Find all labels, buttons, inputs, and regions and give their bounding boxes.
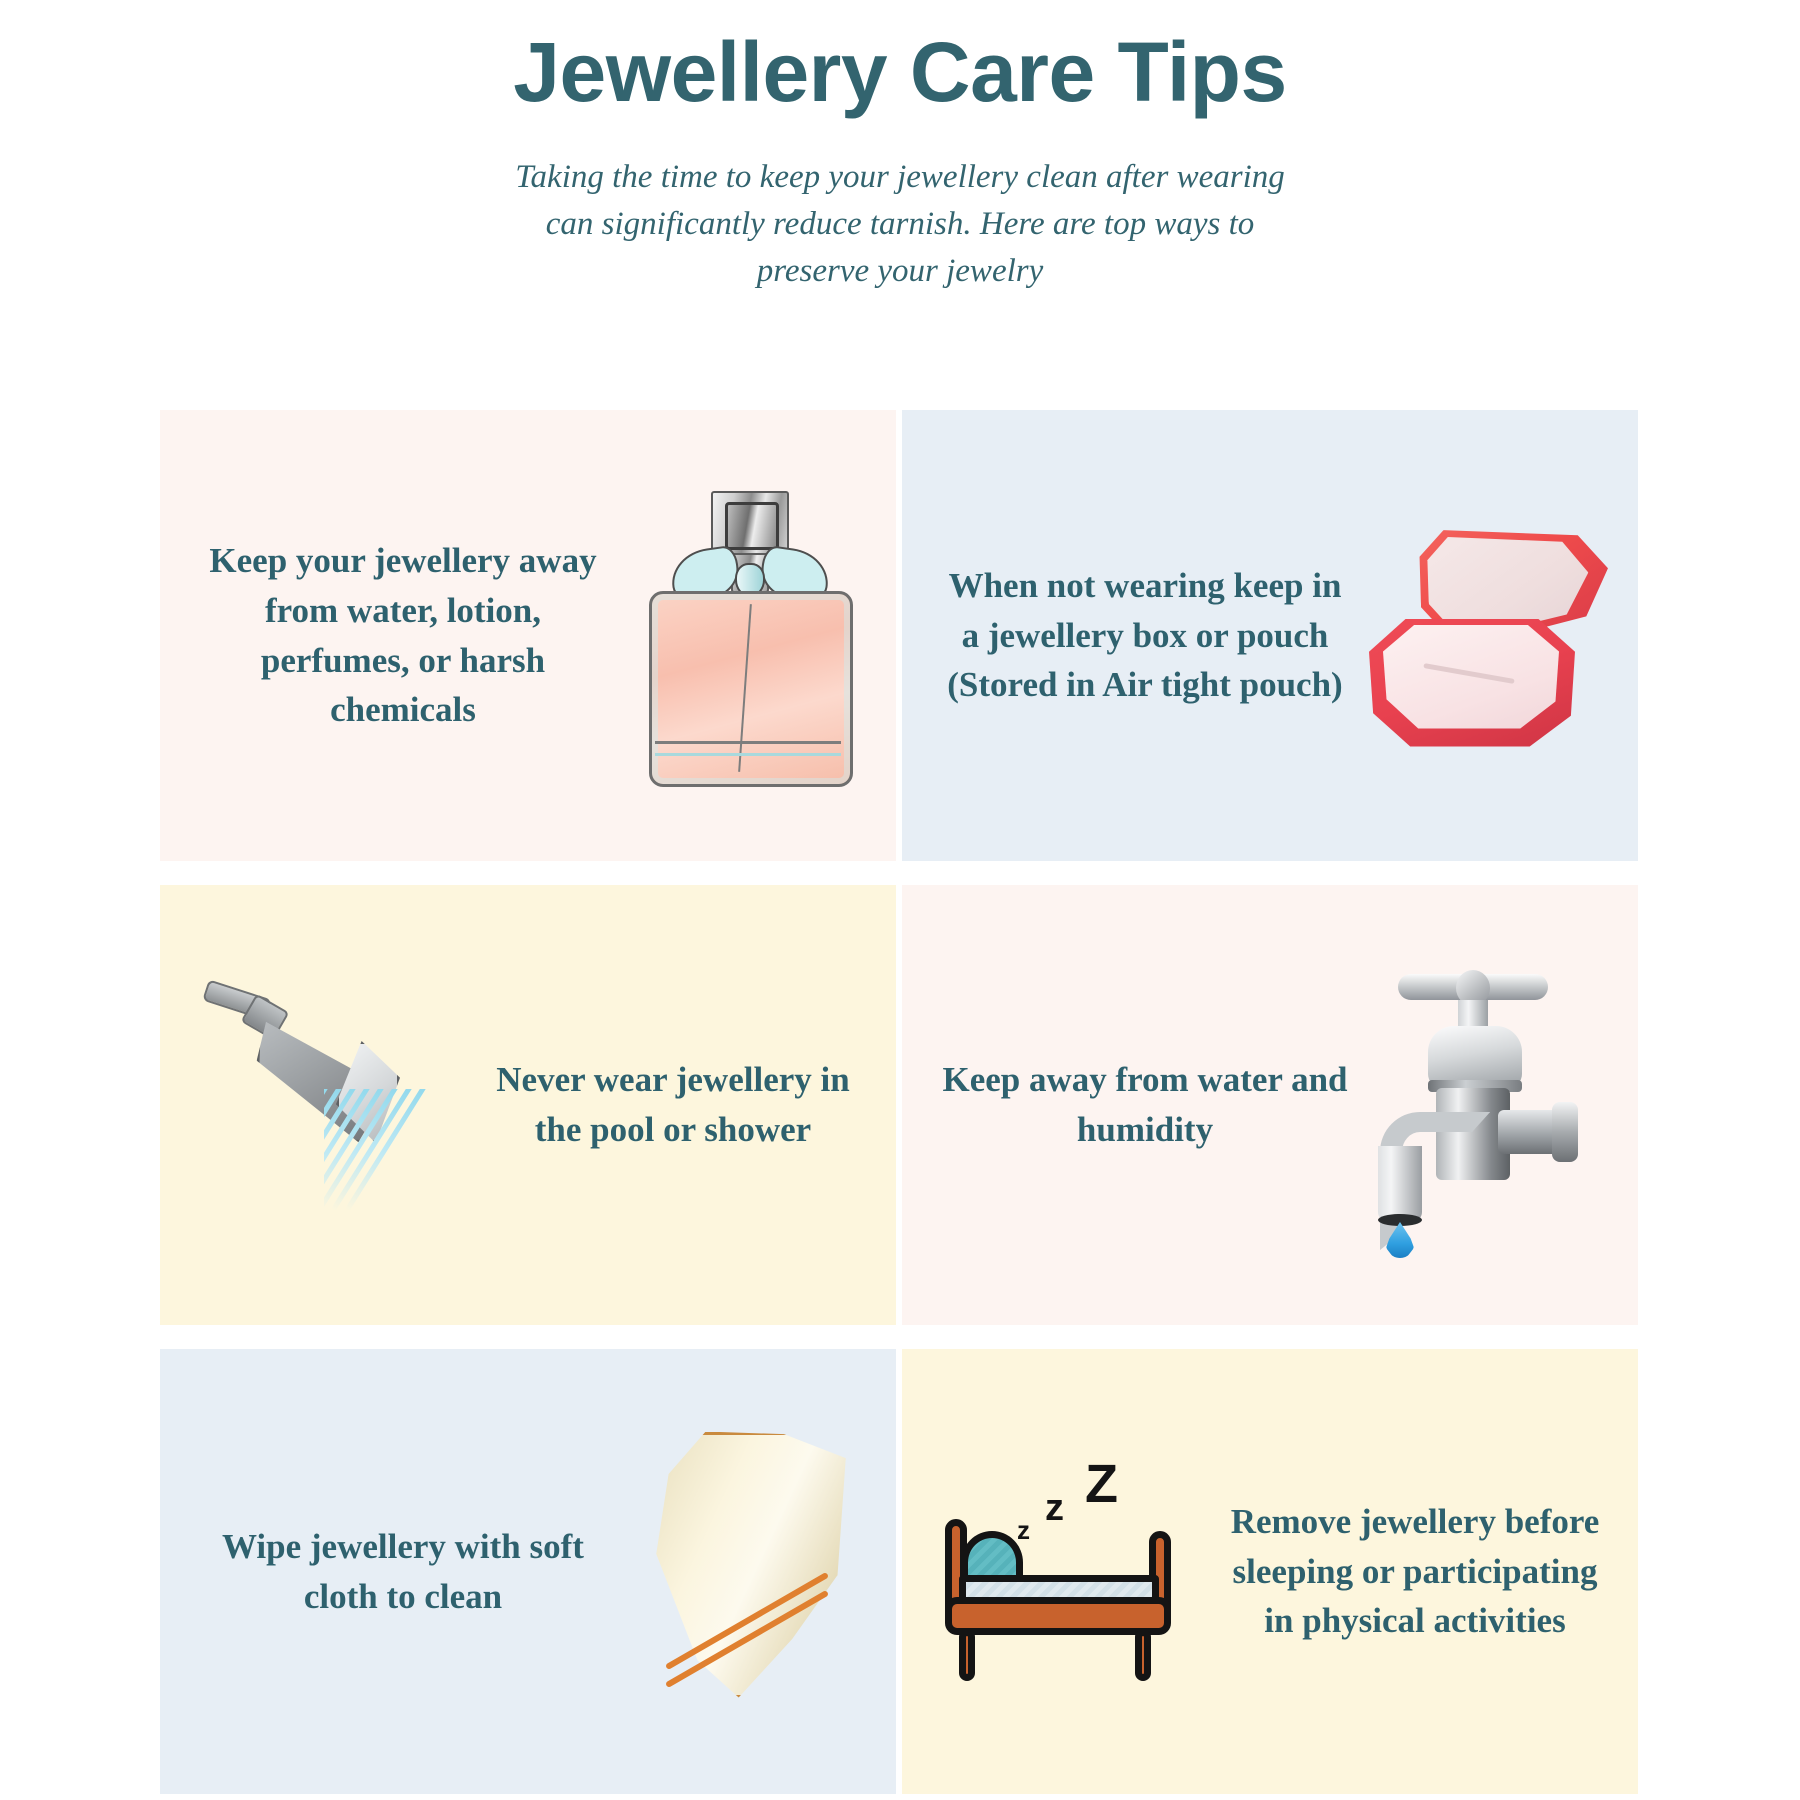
tips-grid: Keep your jewellery away from water, lot… xyxy=(160,410,1638,1794)
tip-card-wipe-with-cloth[interactable]: Wipe jewellery with soft cloth to clean xyxy=(160,1349,896,1794)
tip-card-text: Remove jewellery before sleeping or part… xyxy=(1220,1497,1620,1646)
page-header: Jewellery Care Tips Taking the time to k… xyxy=(0,0,1800,295)
tip-card-store-in-box[interactable]: When not wearing keep in a jewellery box… xyxy=(902,410,1638,861)
tip-card-remove-before-sleep[interactable]: z z Z Remove jewellery before sleeping o… xyxy=(902,1349,1638,1794)
bed-z-medium: z xyxy=(1045,1489,1064,1527)
page-title: Jewellery Care Tips xyxy=(0,30,1800,114)
shower-head-icon xyxy=(178,985,478,1225)
tip-card-text: Wipe jewellery with soft cloth to clean xyxy=(168,1522,608,1621)
tip-card-away-from-chemicals[interactable]: Keep your jewellery away from water, lot… xyxy=(160,410,896,861)
page-subtitle: Taking the time to keep your jewellery c… xyxy=(505,154,1295,295)
bed-z-large: Z xyxy=(1085,1457,1118,1511)
faucet-icon xyxy=(1350,970,1630,1240)
tip-card-text: Keep away from water and humidity xyxy=(910,1055,1350,1154)
tip-card-text: When not wearing keep in a jewellery box… xyxy=(910,561,1350,710)
tip-card-text: Never wear jewellery in the pool or show… xyxy=(478,1055,878,1154)
bed-z-small: z xyxy=(1017,1517,1030,1543)
tip-card-no-pool-or-shower[interactable]: Never wear jewellery in the pool or show… xyxy=(160,885,896,1325)
ring-box-icon xyxy=(1350,521,1630,751)
bed-sleeping-icon: z z Z xyxy=(920,1457,1220,1687)
tip-card-text: Keep your jewellery away from water, lot… xyxy=(168,536,608,735)
perfume-bottle-icon xyxy=(608,491,888,781)
cloth-icon xyxy=(608,1432,888,1712)
tip-card-away-from-water[interactable]: Keep away from water and humidity xyxy=(902,885,1638,1325)
infographic-page: Jewellery Care Tips Taking the time to k… xyxy=(0,0,1800,1800)
